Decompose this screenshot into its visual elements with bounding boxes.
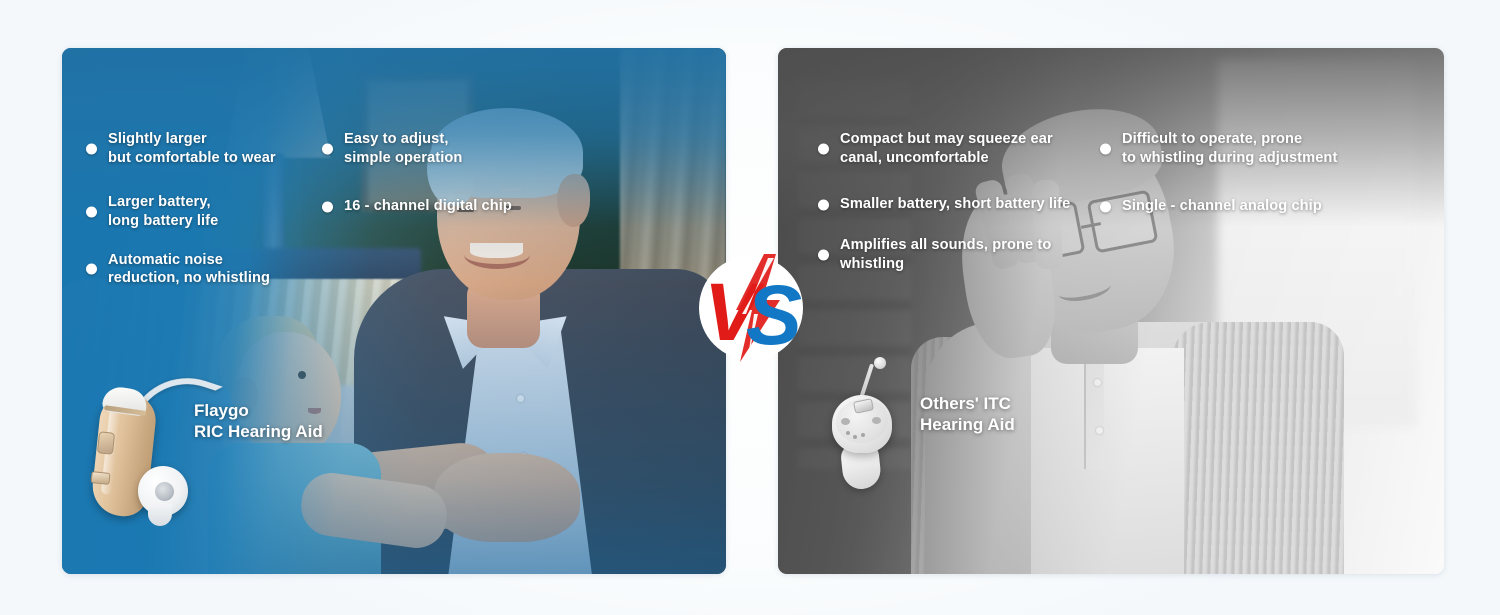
right-comparison-panel: Compact but may squeeze ear canal, uncom…: [778, 48, 1444, 574]
feature-bullet: Slightly larger but comfortable to wear: [84, 130, 334, 167]
feature-bullet: Difficult to operate, prone to whistling…: [1098, 130, 1368, 167]
left-product-label: Flaygo RIC Hearing Aid: [194, 400, 323, 443]
itc-battery-port: [841, 418, 850, 425]
feature-bullet: Automatic noise reduction, no whistling: [84, 251, 334, 288]
feature-bullet: Single - channel analog chip: [1098, 197, 1368, 216]
itc-microphone: [846, 431, 850, 435]
left-features-column-2: Easy to adjust, simple operation 16 - ch…: [320, 130, 590, 216]
feature-bullet: Compact but may squeeze ear canal, uncom…: [816, 130, 1078, 167]
itc-microphone: [861, 433, 865, 437]
right-product-label: Others' ITC Hearing Aid: [920, 393, 1015, 436]
ric-button: [90, 471, 110, 485]
feature-bullet: Easy to adjust, simple operation: [320, 130, 590, 167]
feature-bullet: Amplifies all sounds, prone to whistling: [816, 236, 1078, 273]
ric-receiver-core: [155, 482, 174, 501]
left-comparison-panel: Slightly larger but comfortable to wear …: [62, 48, 726, 574]
itc-vent-port: [872, 417, 881, 424]
ric-control-panel: [97, 431, 115, 455]
itc-hearing-aid-device: [824, 373, 924, 513]
itc-removal-knob: [874, 357, 886, 369]
feature-bullet: Smaller battery, short battery life: [816, 195, 1078, 214]
feature-bullet: Larger battery, long battery life: [84, 193, 334, 230]
comparison-infographic: Slightly larger but comfortable to wear …: [0, 0, 1500, 615]
vs-letter-s: S: [746, 268, 802, 362]
vs-badge: V S: [688, 252, 814, 364]
feature-bullet: 16 - channel digital chip: [320, 197, 590, 216]
ric-receiver-stem: [148, 504, 172, 526]
itc-microphone: [853, 435, 857, 439]
left-features-column-1: Slightly larger but comfortable to wear …: [84, 130, 334, 288]
right-features-column-1: Compact but may squeeze ear canal, uncom…: [816, 130, 1078, 273]
right-features-column-2: Difficult to operate, prone to whistling…: [1098, 130, 1368, 216]
